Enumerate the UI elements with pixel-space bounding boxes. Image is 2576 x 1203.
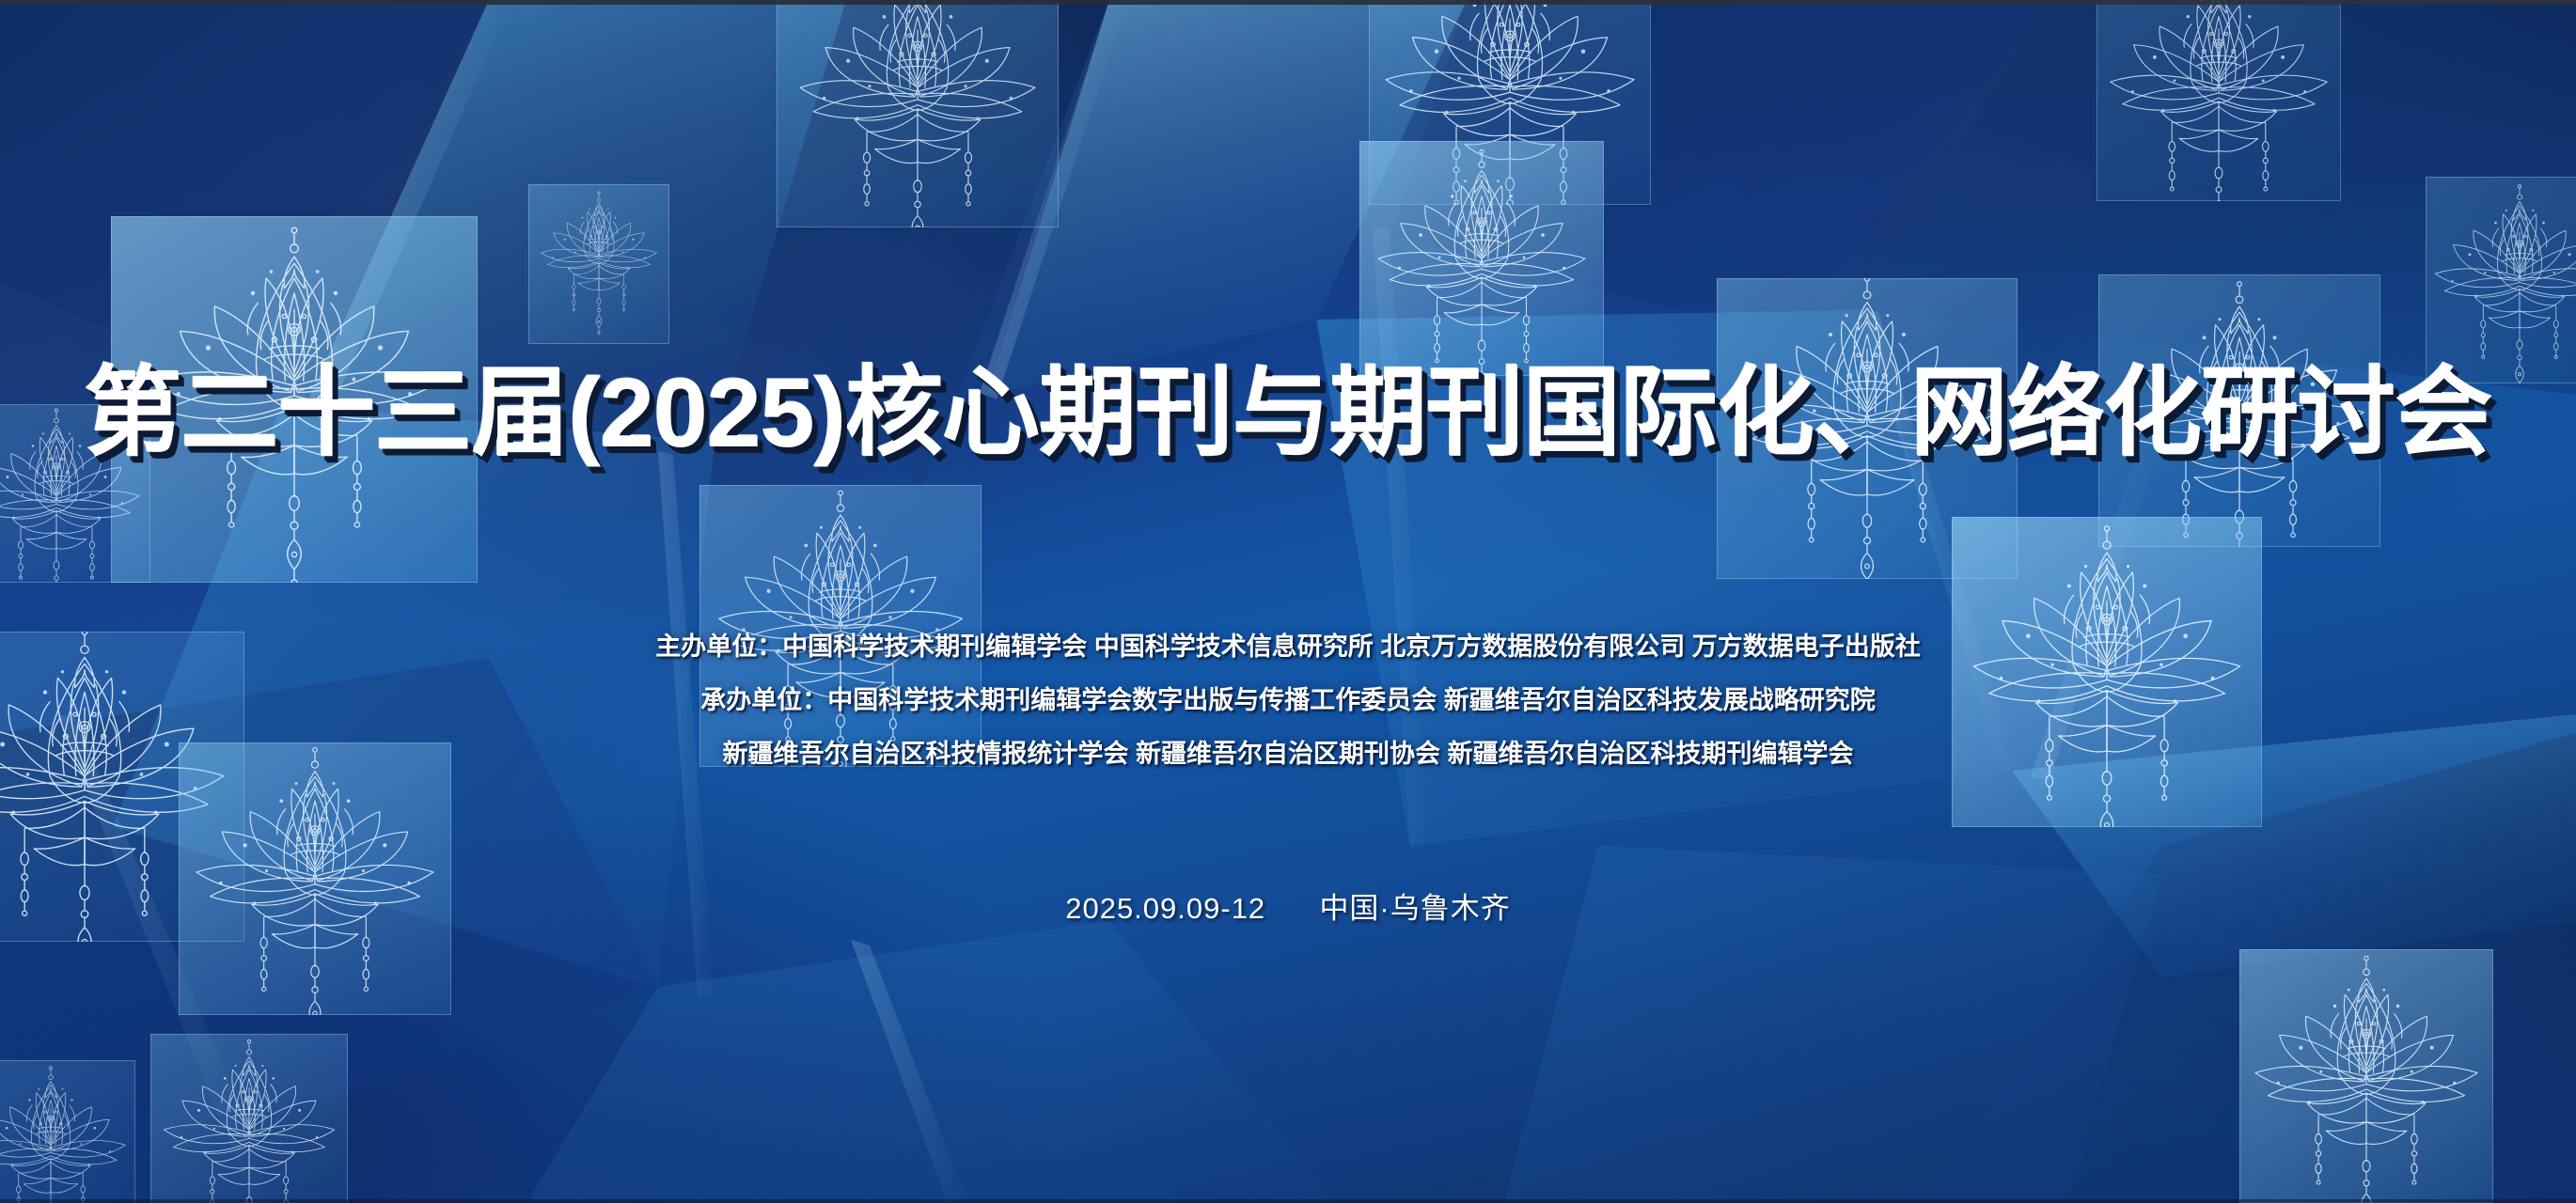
banner-content: 第二十三届(2025)核心期刊与期刊国际化、网络化研讨会 主办单位：中国科学技术… — [0, 0, 2576, 1203]
top-edge-strip — [0, 0, 2576, 5]
organizer-line-coorganizer: 承办单位：中国科学技术期刊编辑学会数字出版与传播工作委员会 新疆维吾尔自治区科技… — [0, 674, 2576, 727]
conference-title: 第二十三届(2025)核心期刊与期刊国际化、网络化研讨会 — [0, 365, 2576, 462]
conference-banner: 第二十三届(2025)核心期刊与期刊国际化、网络化研讨会 主办单位：中国科学技术… — [0, 0, 2576, 1203]
bottom-edge-strip — [0, 1199, 2576, 1203]
organizer-block: 主办单位：中国科学技术期刊编辑学会 中国科学技术信息研究所 北京万方数据股份有限… — [0, 620, 2576, 781]
organizer-line-host: 主办单位：中国科学技术期刊编辑学会 中国科学技术信息研究所 北京万方数据股份有限… — [0, 620, 2576, 674]
date-location-bar: 2025.09.09-12 中国·乌鲁木齐 — [0, 887, 2576, 930]
conference-date: 2025.09.09-12 — [1065, 892, 1265, 925]
conference-location: 中国·乌鲁木齐 — [1319, 892, 1510, 925]
organizer-line-coorganizer-2: 新疆维吾尔自治区科技情报统计学会 新疆维吾尔自治区期刊协会 新疆维吾尔自治区科技… — [0, 727, 2576, 781]
